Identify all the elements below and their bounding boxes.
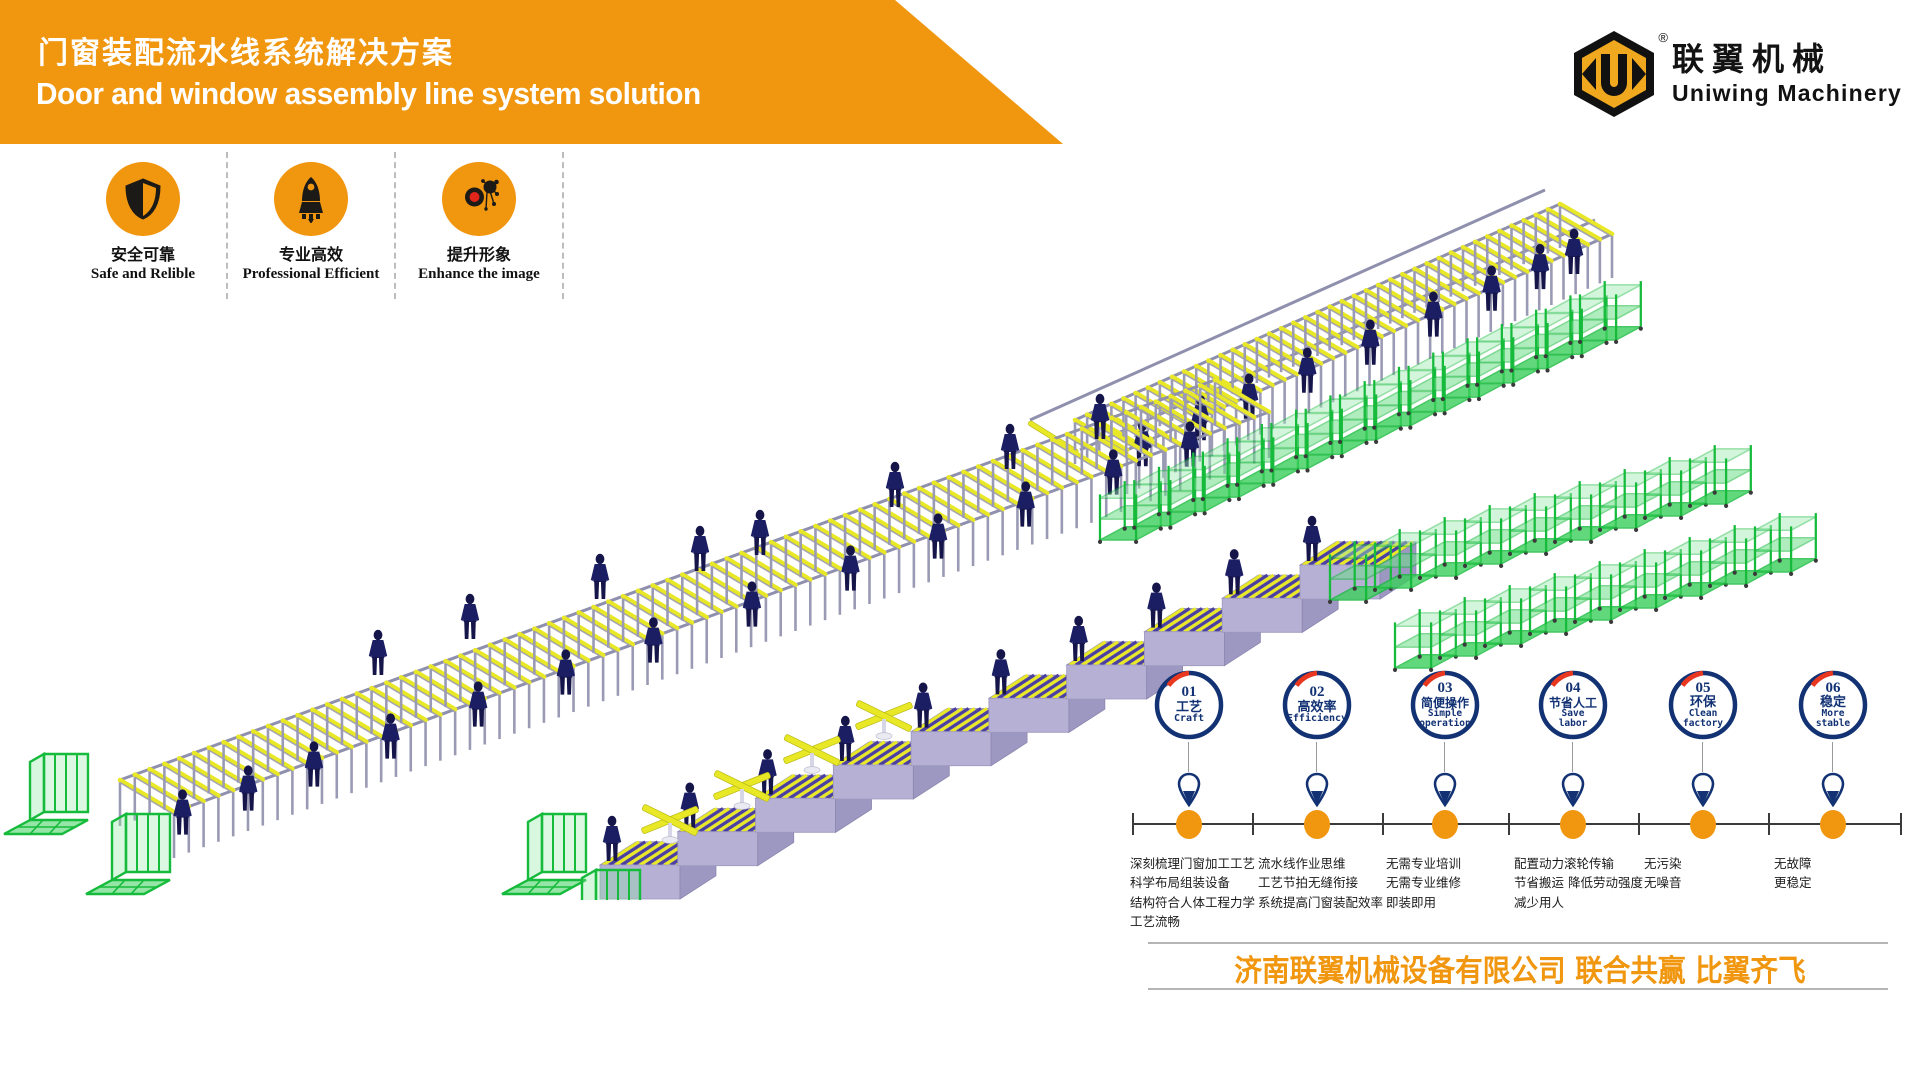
material-rack xyxy=(1338,381,1403,444)
timeline-label-en: Clean factory xyxy=(1676,709,1730,729)
material-rack xyxy=(1578,281,1643,344)
logo-text-block: 联翼机械 Uniwing Machinery xyxy=(1672,41,1902,107)
timeline-dot xyxy=(1820,810,1846,839)
timeline-ring-03: 03 简便操作 Simple operation xyxy=(1408,668,1482,742)
timeline-dot xyxy=(1432,810,1458,839)
timeline-tick xyxy=(1768,813,1770,835)
footer-divider-bottom xyxy=(1148,988,1888,990)
timeline-label-en: More stable xyxy=(1808,709,1858,729)
map-pin-icon xyxy=(1691,772,1715,808)
map-pin-icon xyxy=(1821,772,1845,808)
timeline-ring-text-06: 06 稳定 More stable xyxy=(1796,668,1870,742)
material-rack xyxy=(1643,457,1708,520)
material-rack xyxy=(1508,493,1573,556)
timeline-label-cn: 稳定 xyxy=(1820,696,1846,709)
worker-figure xyxy=(591,554,609,599)
material-rack xyxy=(1418,517,1483,580)
timeline-ring-02: 02 高效率 Efficiency xyxy=(1280,668,1354,742)
material-rack xyxy=(1463,505,1528,568)
timeline-desc-02: 流水线作业思维 工艺节拍无缝衔接 系统提高门窗装配效率 xyxy=(1258,854,1388,912)
timeline-ring-text-02: 02 高效率 Efficiency xyxy=(1280,668,1354,742)
timeline-axis xyxy=(1132,823,1902,825)
timeline-ring-text-03: 03 简便操作 Simple operation xyxy=(1408,668,1482,742)
timeline-desc-01: 深刻梳理门窗加工工艺 科学布局组装设备 结构符合人体工程力学 工艺流畅 xyxy=(1130,854,1260,932)
timeline-item-05[interactable]: 05 环保 Clean factory 无污染 无噪音 xyxy=(1644,668,1762,742)
material-rack xyxy=(1438,597,1503,660)
banner-title-chinese: 门窗装配流水线系统解决方案 xyxy=(38,28,454,72)
timeline-number: 05 xyxy=(1696,681,1711,696)
cross-frame xyxy=(783,734,841,773)
worker-figure xyxy=(461,594,479,639)
timeline-number: 02 xyxy=(1310,685,1325,700)
panel-rack xyxy=(86,814,170,894)
timeline-ring-04: 04 节省人工 Save labor xyxy=(1536,668,1610,742)
footer-slogan-block: 济南联翼机械设备有限公司 联合共赢 比翼齐飞 xyxy=(1140,940,1900,992)
timeline-stem xyxy=(1188,742,1189,772)
timeline-item-06[interactable]: 06 稳定 More stable 无故障 更稳定 xyxy=(1774,668,1892,742)
map-pin-icon xyxy=(1305,772,1329,808)
logo-name-english: Uniwing Machinery xyxy=(1672,80,1902,108)
timeline-dot xyxy=(1560,810,1586,839)
timeline-ring-06: 06 稳定 More stable xyxy=(1796,668,1870,742)
timeline-tick xyxy=(1252,813,1254,835)
timeline-label-en: Simple operation xyxy=(1414,709,1476,729)
material-rack xyxy=(1688,445,1753,508)
map-pin-icon xyxy=(1433,772,1457,808)
material-rack xyxy=(1393,609,1458,672)
material-rack xyxy=(1544,295,1609,358)
timeline-ring-text-01: 01 工艺 Craft xyxy=(1152,668,1226,742)
timeline-dot xyxy=(1176,810,1202,839)
timeline-number: 01 xyxy=(1182,685,1197,700)
material-rack xyxy=(1441,338,1506,401)
timeline-item-04[interactable]: 04 节省人工 Save labor 配置动力滚轮传输 节省搬运 降低劳动强度 … xyxy=(1514,668,1632,742)
timeline-stem xyxy=(1572,742,1573,772)
worker-figure xyxy=(369,630,387,675)
panel-rack xyxy=(502,814,586,894)
timeline-stem xyxy=(1316,742,1317,772)
material-rack xyxy=(1753,513,1818,576)
material-rack xyxy=(1553,481,1618,544)
timeline-label-cn: 节省人工 xyxy=(1549,697,1597,709)
material-rack xyxy=(1509,310,1574,373)
material-rack xyxy=(1098,481,1163,544)
timeline-item-02[interactable]: 02 高效率 Efficiency 流水线作业思维 工艺节拍无缝衔接 系统提高门… xyxy=(1258,668,1376,742)
timeline-desc-03: 无需专业培训 无需专业维修 即装即用 xyxy=(1386,854,1516,912)
map-pin-icon xyxy=(1177,772,1201,808)
timeline-stem xyxy=(1832,742,1833,772)
timeline-tick xyxy=(1132,813,1134,835)
timeline-label-en: Save labor xyxy=(1548,709,1598,729)
material-rack xyxy=(1573,561,1638,624)
timeline-ring-05: 05 环保 Clean factory xyxy=(1666,668,1740,742)
logo-name-chinese: 联翼机械 xyxy=(1672,41,1902,78)
middle-line-group xyxy=(120,380,1269,858)
timeline-ring-01: 01 工艺 Craft xyxy=(1152,668,1226,742)
timeline-number: 03 xyxy=(1438,681,1453,696)
footer-slogan-text: 济南联翼机械设备有限公司 联合共赢 比翼齐飞 xyxy=(1170,946,1869,990)
registered-trademark-icon: ® xyxy=(1658,30,1668,45)
timeline-label-cn: 工艺 xyxy=(1176,701,1202,714)
timeline-item-01[interactable]: 01 工艺 Craft 深刻梳理门窗加工工艺 科学布局组装设备 结构符合人体工程… xyxy=(1130,668,1248,742)
timeline-dot xyxy=(1690,810,1716,839)
material-rack xyxy=(1475,324,1540,387)
timeline-tick xyxy=(1900,813,1902,835)
material-rack xyxy=(1708,525,1773,588)
timeline-stem xyxy=(1444,742,1445,772)
timeline-number: 06 xyxy=(1826,681,1841,696)
timeline-label-cn: 环保 xyxy=(1690,696,1716,709)
material-rack xyxy=(1618,549,1683,612)
timeline-number: 04 xyxy=(1566,681,1581,696)
timeline-dot xyxy=(1304,810,1330,839)
timeline-label-cn: 简便操作 xyxy=(1421,697,1469,709)
material-rack xyxy=(1132,467,1197,530)
material-rack xyxy=(1406,353,1471,416)
panel-rack xyxy=(4,754,88,834)
material-rack xyxy=(1598,469,1663,532)
poster-root: 门窗装配流水线系统解决方案 Door and window assembly l… xyxy=(0,0,1920,1080)
cross-frame xyxy=(855,700,913,739)
footer-divider-top xyxy=(1148,942,1888,944)
timeline-desc-05: 无污染 无噪音 xyxy=(1644,854,1774,893)
timeline-ring-text-04: 04 节省人工 Save labor xyxy=(1536,668,1610,742)
material-rack xyxy=(1483,585,1548,648)
banner-title-english: Door and window assembly line system sol… xyxy=(36,76,701,112)
hexagon-u-logo-icon: ® xyxy=(1568,28,1660,120)
material-rack xyxy=(1235,424,1300,487)
material-rack xyxy=(1663,537,1728,600)
timeline-tick xyxy=(1638,813,1640,835)
timeline-item-03[interactable]: 03 简便操作 Simple operation 无需专业培训 无需专业维修 即… xyxy=(1386,668,1504,742)
material-rack xyxy=(1269,410,1334,473)
timeline-label-en: Efficiency xyxy=(1287,714,1347,725)
timeline-ring-text-05: 05 环保 Clean factory xyxy=(1666,668,1740,742)
material-rack xyxy=(1304,395,1369,458)
map-pin-icon xyxy=(1561,772,1585,808)
timeline-label-en: Craft xyxy=(1174,714,1204,725)
timeline-tick xyxy=(1508,813,1510,835)
timeline-desc-06: 无故障 更稳定 xyxy=(1774,854,1904,893)
timeline-stem xyxy=(1702,742,1703,772)
timeline-tick xyxy=(1382,813,1384,835)
material-rack xyxy=(1528,573,1593,636)
timeline-desc-04: 配置动力滚轮传输 节省搬运 降低劳动强度 减少用人 xyxy=(1514,854,1644,912)
company-logo: ® 联翼机械 Uniwing Machinery xyxy=(1568,28,1902,120)
roller-conveyor xyxy=(120,380,1269,858)
